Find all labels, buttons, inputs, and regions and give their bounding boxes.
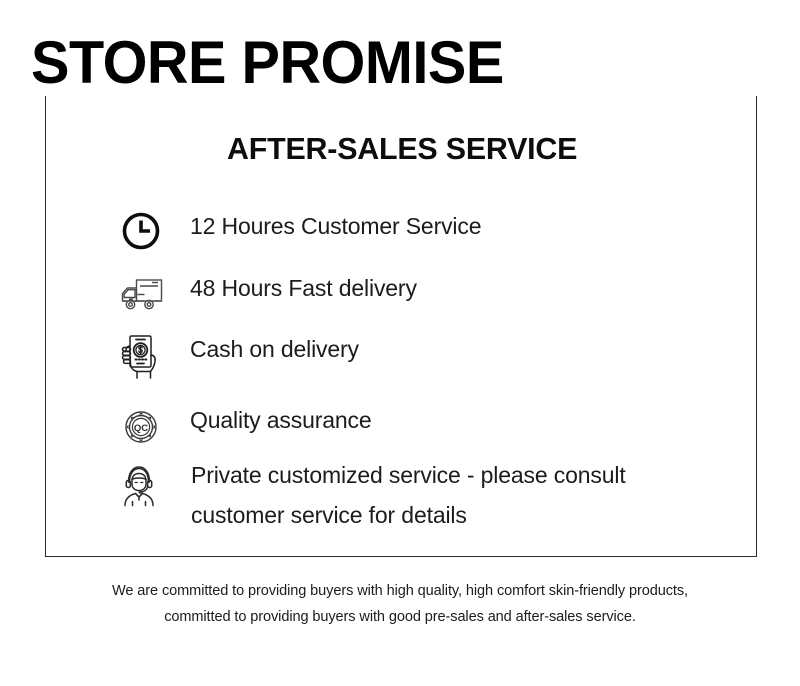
quality-control-seal-icon: QC xyxy=(110,400,172,448)
list-item: Private customized service - please cons… xyxy=(108,455,728,535)
feature-list: 12 Houres Customer Service xyxy=(0,0,800,557)
list-item-label: 48 Hours Fast delivery xyxy=(172,268,417,308)
clock-icon xyxy=(110,206,172,252)
list-item-label: 12 Houres Customer Service xyxy=(172,206,481,246)
list-item-label: Cash on delivery xyxy=(172,329,359,369)
list-item-label: Private customized service - please cons… xyxy=(170,455,721,535)
customer-service-agent-icon xyxy=(108,455,170,509)
svg-text:QC: QC xyxy=(134,423,148,434)
footer-line-1: We are committed to providing buyers wit… xyxy=(70,578,730,604)
footer-line-2: committed to providing buyers with good … xyxy=(70,604,730,630)
list-item: Cash on delivery xyxy=(110,329,730,381)
list-item: 12 Houres Customer Service xyxy=(110,206,730,252)
list-item: QC Quality assurance xyxy=(110,400,730,448)
delivery-truck-icon xyxy=(110,268,172,314)
footer-note: We are committed to providing buyers wit… xyxy=(60,578,740,630)
mobile-payment-icon xyxy=(110,329,172,381)
list-item: 48 Hours Fast delivery xyxy=(110,268,730,314)
store-promise-banner: STORE PROMISE AFTER-SALES SERVICE 12 Hou… xyxy=(0,0,800,686)
list-item-label: Quality assurance xyxy=(172,400,372,440)
